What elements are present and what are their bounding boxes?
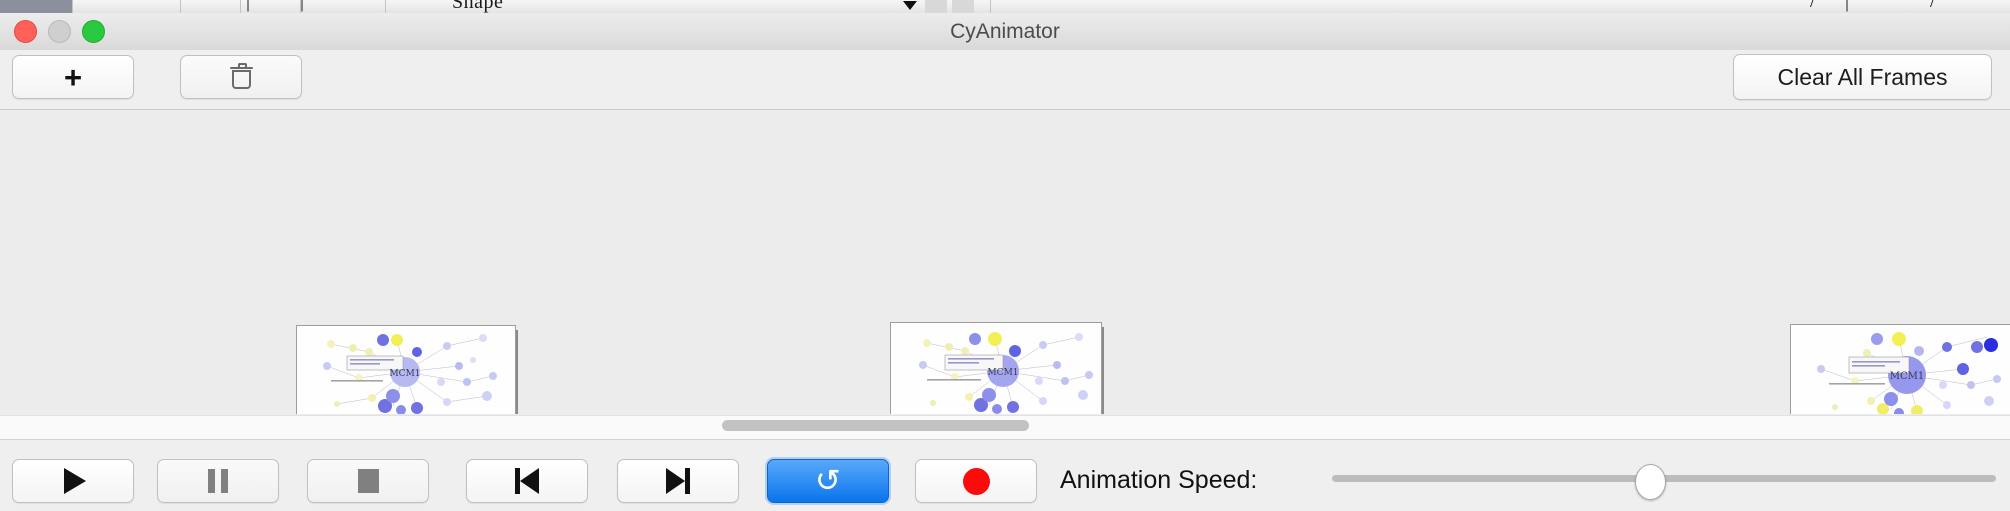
- loop-icon: ↺: [815, 466, 841, 497]
- pause-button[interactable]: [157, 459, 279, 503]
- network-graph-icon: MCM1: [1791, 325, 2010, 414]
- trash-icon: [231, 65, 252, 89]
- frame-thumbnail-3[interactable]: MCM1: [1790, 324, 2010, 414]
- hub-node-label: MCM1: [389, 369, 420, 379]
- skip-back-icon: [515, 468, 539, 494]
- add-frame-button[interactable]: +: [12, 55, 134, 99]
- frame-thumbnail-2[interactable]: MCM1: [890, 322, 1100, 414]
- animation-speed-slider-thumb[interactable]: [1635, 464, 1666, 500]
- background-tab: [0, 0, 72, 13]
- hub-node-label: MCM1: [987, 368, 1018, 378]
- stop-icon: [358, 469, 379, 493]
- background-shape-label: Shape: [452, 0, 503, 13]
- cyanimator-window: | | Shape / | / CyAnimator + Clear All F…: [0, 0, 2010, 510]
- background-arrow-icon: [903, 1, 917, 10]
- loop-button[interactable]: ↺: [767, 459, 889, 503]
- hub-node-label: MCM1: [1890, 371, 1925, 382]
- network-graph-icon: MCM1: [297, 326, 515, 414]
- timeline-scrollbar-thumb[interactable]: [722, 420, 1029, 431]
- network-graph-icon: MCM1: [891, 323, 1101, 414]
- plus-icon: +: [64, 62, 82, 93]
- record-button[interactable]: [915, 459, 1037, 503]
- play-icon: [64, 468, 86, 494]
- background-window-strip: | | Shape / | /: [0, 0, 2010, 13]
- play-button[interactable]: [12, 459, 134, 503]
- timeline-panel[interactable]: MCM1: [0, 110, 2010, 414]
- stop-button[interactable]: [307, 459, 429, 503]
- pause-icon: [208, 469, 228, 493]
- skip-back-button[interactable]: [466, 459, 588, 503]
- clear-all-frames-button[interactable]: Clear All Frames: [1733, 54, 1992, 100]
- animation-speed-label: Animation Speed:: [1060, 459, 1257, 501]
- skip-forward-icon: [666, 468, 690, 494]
- frame-thumbnail-1[interactable]: MCM1: [296, 325, 514, 414]
- delete-frame-button[interactable]: [180, 55, 302, 99]
- record-icon: [963, 468, 990, 495]
- skip-forward-button[interactable]: [617, 459, 739, 503]
- window-title: CyAnimator: [0, 13, 2010, 50]
